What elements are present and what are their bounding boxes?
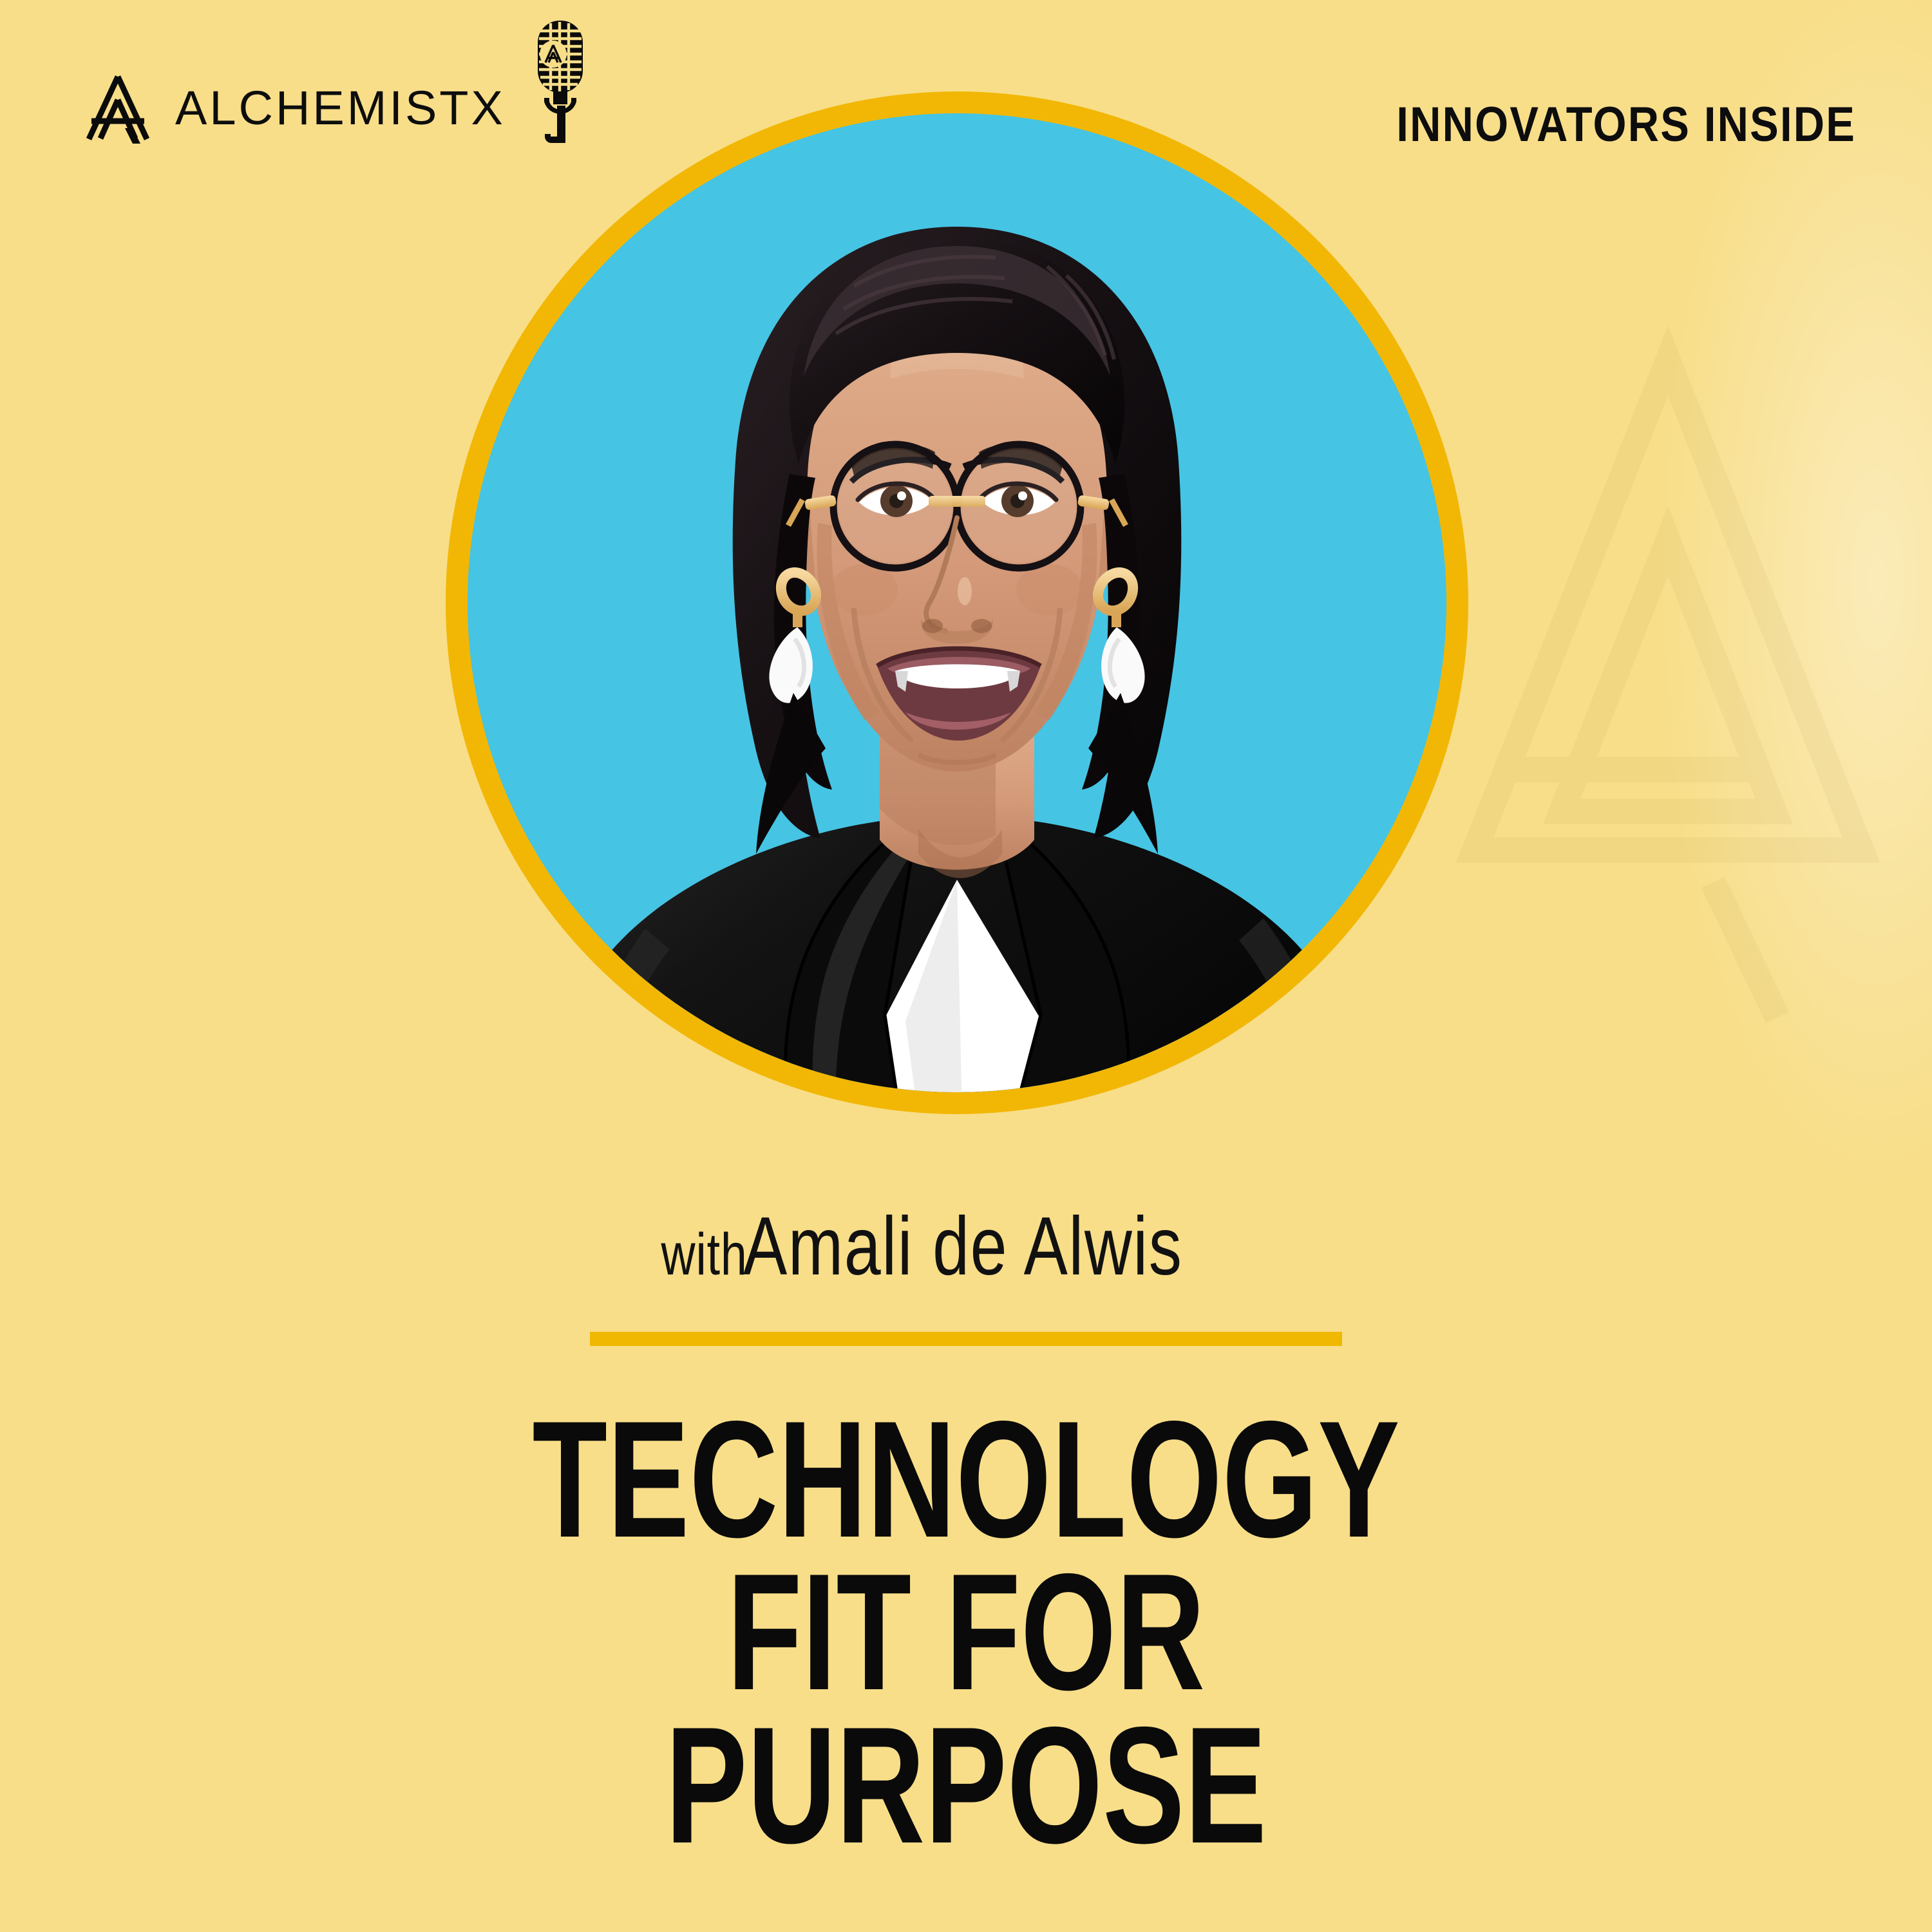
episode-title-line-1: TECHNOLOGY bbox=[251, 1403, 1681, 1555]
episode-title-line-2: FIT FOR bbox=[251, 1555, 1681, 1708]
guest-credit: withAmali de Alwis bbox=[0, 1199, 1932, 1294]
episode-title: TECHNOLOGY FIT FOR PURPOSE bbox=[0, 1403, 1932, 1861]
alchemist-a-logo-icon bbox=[82, 71, 153, 146]
portrait-illustration bbox=[468, 113, 1446, 1092]
portrait-disc bbox=[468, 113, 1446, 1092]
episode-title-line-3: PURPOSE bbox=[251, 1709, 1681, 1861]
podcast-cover: ALCHEMISTX bbox=[0, 0, 1932, 1932]
guest-name: Amali de Alwis bbox=[743, 1199, 1183, 1294]
guest-portrait bbox=[446, 91, 1468, 1114]
guest-prefix: with bbox=[661, 1221, 747, 1289]
alchemist-a-monogram-watermark-icon bbox=[1404, 90, 1932, 1185]
title-divider bbox=[590, 1332, 1342, 1346]
